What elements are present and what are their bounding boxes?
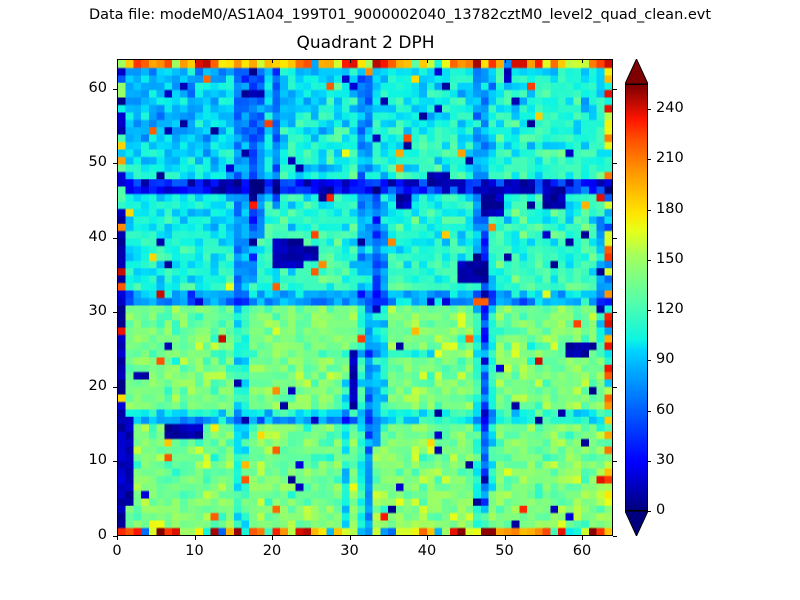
colorbar-tick-mark [647, 210, 651, 211]
colorbar-tick-label: 0 [656, 502, 665, 518]
x-tick-mark-top [195, 59, 196, 63]
y-tick-mark-right [613, 312, 617, 313]
x-tick-label: 10 [165, 543, 225, 559]
colorbar-tick-mark [647, 511, 651, 512]
y-tick-label: 60 [39, 80, 107, 96]
y-tick-mark-right [613, 238, 617, 239]
colorbar-tick-label: 60 [656, 402, 674, 418]
x-tick-mark-top [505, 59, 506, 63]
colorbar-tick-label: 150 [656, 251, 684, 267]
x-tick-label: 0 [87, 543, 147, 559]
figure-canvas: Data file: modeM0/AS1A04_199T01_90000020… [0, 0, 800, 600]
x-tick-label: 20 [242, 543, 302, 559]
colorbar [625, 59, 648, 536]
x-tick-label: 50 [475, 543, 535, 559]
y-tick-mark [113, 536, 117, 537]
colorbar-gradient-body [625, 84, 648, 511]
detector-heatmap-image [118, 60, 612, 535]
y-tick-mark [113, 163, 117, 164]
y-tick-mark [113, 387, 117, 388]
colorbar-extend-min-arrow-icon [625, 511, 648, 536]
x-tick-mark-top [582, 59, 583, 63]
data-file-label: Data file: modeM0/AS1A04_199T01_90000020… [0, 6, 800, 24]
x-tick-mark-top [272, 59, 273, 63]
heatmap-axes [117, 59, 613, 536]
x-tick-mark-top [350, 59, 351, 63]
colorbar-tick-label: 210 [656, 150, 684, 166]
y-tick-mark [113, 461, 117, 462]
y-tick-mark-right [613, 387, 617, 388]
x-tick-mark [272, 536, 273, 540]
x-tick-mark-top [427, 59, 428, 63]
colorbar-tick-mark [647, 360, 651, 361]
colorbar-tick-label: 240 [656, 100, 684, 116]
y-tick-mark-right [613, 536, 617, 537]
x-tick-label: 30 [320, 543, 380, 559]
x-tick-mark [195, 536, 196, 540]
colorbar-tick-label: 90 [656, 351, 674, 367]
colorbar-tick-mark [647, 411, 651, 412]
x-tick-mark [350, 536, 351, 540]
colorbar-tick-mark [647, 310, 651, 311]
colorbar-tick-mark [647, 109, 651, 110]
colorbar-extend-max-arrow-icon [625, 59, 648, 84]
colorbar-gradient-image [626, 85, 647, 510]
y-tick-label: 50 [39, 154, 107, 170]
colorbar-tick-mark [647, 461, 651, 462]
x-tick-mark [582, 536, 583, 540]
y-tick-mark-right [613, 163, 617, 164]
x-tick-mark [427, 536, 428, 540]
y-tick-label: 20 [39, 378, 107, 394]
x-tick-mark-top [117, 59, 118, 63]
y-tick-label: 40 [39, 229, 107, 245]
y-tick-label: 10 [39, 452, 107, 468]
y-tick-label: 0 [39, 527, 107, 543]
x-tick-label: 60 [552, 543, 612, 559]
colorbar-tick-mark [647, 260, 651, 261]
y-tick-mark [113, 238, 117, 239]
x-tick-mark [117, 536, 118, 540]
colorbar-tick-label: 180 [656, 201, 684, 217]
colorbar-tick-label: 30 [656, 452, 674, 468]
colorbar-tick-label: 120 [656, 301, 684, 317]
colorbar-tick-mark [647, 159, 651, 160]
y-tick-mark-right [613, 89, 617, 90]
y-tick-mark [113, 89, 117, 90]
y-tick-mark-right [613, 461, 617, 462]
plot-title: Quadrant 2 DPH [117, 33, 614, 54]
y-tick-mark [113, 312, 117, 313]
x-tick-label: 40 [397, 543, 457, 559]
y-tick-label: 30 [39, 303, 107, 319]
x-tick-mark [505, 536, 506, 540]
